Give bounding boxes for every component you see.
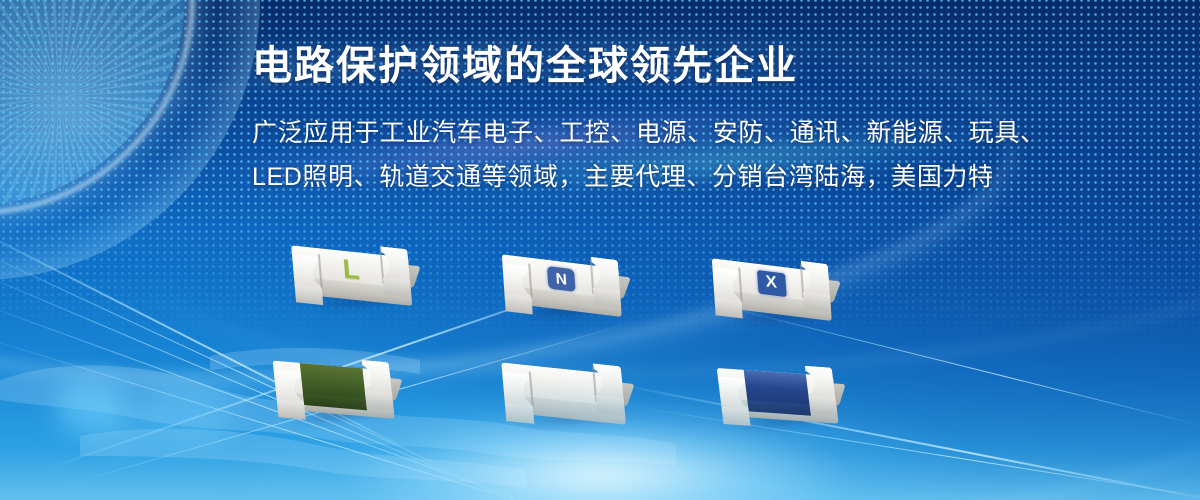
smd-fuse-n[interactable]: N <box>503 257 628 319</box>
fuse-marking-badge: X <box>756 269 786 296</box>
fuse-marking-badge: N <box>547 266 576 292</box>
fuse-body: L <box>292 246 418 310</box>
fuse-body: N <box>503 257 628 319</box>
smd-fuse-x[interactable]: X <box>713 261 838 323</box>
fuse-marking-area: L <box>318 248 384 289</box>
fuse-cap-front-left <box>295 285 324 305</box>
fuse-cap-front-right <box>593 288 621 309</box>
fuse-body: X <box>713 261 838 323</box>
fuse-cap-front-left <box>504 294 532 315</box>
fuse-marking-letter: L <box>342 255 361 283</box>
fuse-cap-front-right <box>383 277 412 297</box>
fuse-cap-front-right <box>803 292 831 313</box>
smd-fuse-l[interactable]: L <box>292 246 418 310</box>
fuse-cap-front-left <box>714 298 742 319</box>
hero-banner: 电路保护领域的全球领先企业 广泛应用于工业汽车电子、工控、电源、安防、通讯、新能… <box>0 0 1200 500</box>
